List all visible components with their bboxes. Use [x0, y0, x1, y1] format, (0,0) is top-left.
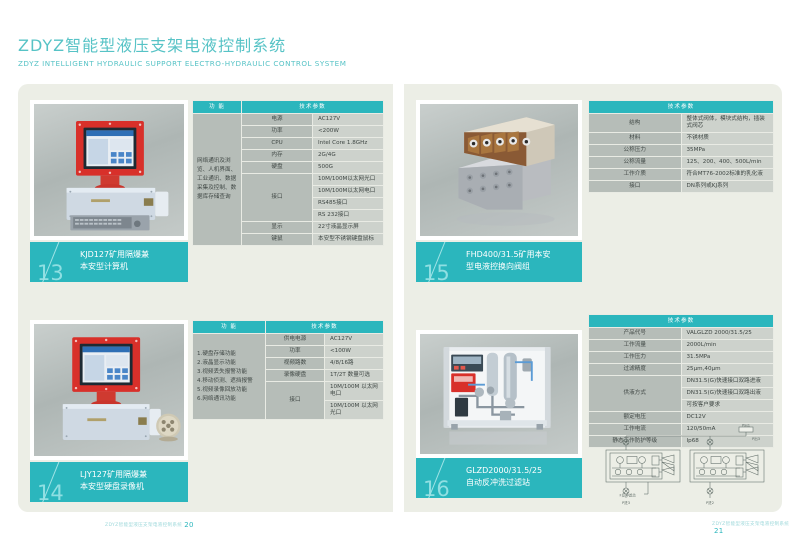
product-number-16: 16 [423, 479, 450, 498]
row-value: 1T/2T 数量可选 [325, 370, 384, 382]
product-label-16[interactable]: 16 GLZD2000/31.5/25 自动反冲洗过滤站 [416, 458, 582, 498]
row-key: 功率 [266, 346, 325, 358]
row-value: 10M/100M以太网电口 [313, 186, 384, 198]
row-value: 可按客户要求 [681, 400, 774, 412]
row-key: 硬盘 [242, 162, 313, 174]
table-row: 工作流量 2000L/min [589, 340, 774, 352]
table-row: 公称压力 35MPa [589, 145, 774, 157]
row-value: 本安型不锈钢键盘鼠标 [313, 234, 384, 246]
schematic-label-p-in-1: P进3 [622, 500, 630, 505]
row-value: 不锈材质 [681, 133, 774, 145]
col-header-function: 功 能 [193, 321, 266, 334]
row-value: 31.5MPa [681, 352, 774, 364]
footer-right: ZDYZ智能型液压支架电液控制系统21 [712, 521, 800, 535]
row-value: 符合MT76-2002标准的乳化液 [681, 169, 774, 181]
footer-brand-right: ZDYZ智能型液压支架电液控制系统 [712, 522, 789, 527]
row-key: 工作流量 [589, 340, 682, 352]
table-row: 产品代号 VALGLZD 2000/31.5/25 [589, 328, 774, 340]
row-value: VALGLZD 2000/31.5/25 [681, 328, 774, 340]
page-header: ZDYZ智能型液压支架电液控制系统 ZDYZ INTELLIGENT HYDRA… [18, 32, 346, 68]
row-value: 10M/100M 以太网光口 [325, 401, 384, 420]
product-label-13[interactable]: 13 KJD127矿用隔爆兼 本安型计算机 [30, 242, 188, 282]
table-row: 网络通讯及浏览、人机界面、工业通讯、数据采集及控制、数据库存储查询 电源 AC1… [193, 114, 384, 126]
row-key: 视频路数 [266, 358, 325, 370]
row-key: 供电电源 [266, 334, 325, 346]
product-label-15[interactable]: 15 FHD400/31.5矿用本安 型电液控换向阀组 [416, 242, 582, 282]
product-label-14[interactable]: 14 LJY127矿用隔爆兼 本安型硬盘录像机 [30, 462, 188, 502]
function-cell-14: 1.硬盘存储功能 2.液晶显示功能 3.视频丢失报警功能 4.移动侦测、遮挡报警… [193, 334, 266, 420]
table-row: 材料 不锈材质 [589, 133, 774, 145]
row-value: DN31.5(G)快速接口双路进液 [681, 376, 774, 388]
row-value: 10M/100M以太网光口 [313, 174, 384, 186]
row-value: 125、200、400、500L/min [681, 157, 774, 169]
photo-frame-16 [416, 330, 582, 458]
schematic-label-p-out-1: P出1 [742, 424, 750, 428]
row-key: 内存 [242, 150, 313, 162]
schematic-label-p-in-2: P进2 [706, 500, 714, 505]
table-row: 供液方式 DN31.5(G)快速接口双路进液 [589, 376, 774, 388]
row-value: 35MPa [681, 145, 774, 157]
spec-table-13: 功 能 技术参数 网络通讯及浏览、人机界面、工业通讯、数据采集及控制、数据库存储… [192, 100, 384, 246]
product-name-15: FHD400/31.5矿用本安 型电液控换向阀组 [466, 249, 578, 273]
explosion-proof-dvr-photo [34, 324, 184, 456]
product-number-15: 15 [423, 263, 450, 282]
col-header-function: 功 能 [193, 101, 242, 114]
table-row: 接口 DN系列或KJ系列 [589, 181, 774, 193]
row-value: AC127V [325, 334, 384, 346]
row-key: 接口 [266, 382, 325, 420]
col-header-params: 技术参数 [266, 321, 384, 334]
row-value: AC127V [313, 114, 384, 126]
table-row: 工作介质 符合MT76-2002标准的乳化液 [589, 169, 774, 181]
row-key: 接口 [589, 181, 682, 193]
table-row: 过滤精度 25μm,40μm [589, 364, 774, 376]
row-key: 键鼠 [242, 234, 313, 246]
photo-frame-13 [30, 100, 188, 240]
col-header-params: 技术参数 [242, 101, 384, 114]
row-value: <100W [325, 346, 384, 358]
row-value: Intel Core 1.8GHz [313, 138, 384, 150]
row-key: 供液方式 [589, 376, 682, 412]
col-header-params: 技术参数 [589, 315, 774, 328]
row-value: DN系列或KJ系列 [681, 181, 774, 193]
product-name-13: KJD127矿用隔爆兼 本安型计算机 [80, 249, 184, 273]
row-value: 整体式阀体，模块式结构，插装式阀芯 [681, 114, 774, 133]
row-value: 500G [313, 162, 384, 174]
row-value: 2G/4G [313, 150, 384, 162]
page-number-left: 20 [184, 521, 194, 529]
col-header-params: 技术参数 [589, 101, 774, 114]
filter-station-photo [420, 334, 578, 454]
table-header-row: 技术参数 [589, 101, 774, 114]
table-header-row: 功 能 技术参数 [193, 321, 384, 334]
row-value: 22寸液晶显示屏 [313, 222, 384, 234]
catalog-page: ZDYZ智能型液压支架电液控制系统 ZDYZ INTELLIGENT HYDRA… [0, 0, 800, 543]
row-value: 4/8/16路 [325, 358, 384, 370]
table-row: 公称流量 125、200、400、500L/min [589, 157, 774, 169]
table-row: 工作压力 31.5MPa [589, 352, 774, 364]
row-key: 显示 [242, 222, 313, 234]
row-value: 2000L/min [681, 340, 774, 352]
row-value: <200W [313, 126, 384, 138]
function-cell-13: 网络通讯及浏览、人机界面、工业通讯、数据采集及控制、数据库存储查询 [193, 114, 242, 246]
row-key: 材料 [589, 133, 682, 145]
product-number-13: 13 [37, 263, 64, 282]
product-number-14: 14 [37, 483, 64, 502]
row-key: 电源 [242, 114, 313, 126]
row-value: 25μm,40μm [681, 364, 774, 376]
row-key: 公称流量 [589, 157, 682, 169]
row-value: DN31.5(G)快速接口双路出液 [681, 388, 774, 400]
photo-frame-14 [30, 320, 188, 460]
row-key: 工作介质 [589, 169, 682, 181]
footer-left: ZDYZ智能型液压支架电液控制系统20 [105, 521, 194, 529]
row-key: 产品代号 [589, 328, 682, 340]
schematic-label-backwash: F反冲滤芯 [620, 493, 637, 498]
table-row: 额定电压 DC12V [589, 412, 774, 424]
row-key: 功率 [242, 126, 313, 138]
row-value: 10M/100M 以太网电口 [325, 382, 384, 401]
table-header-row: 功 能 技术参数 [193, 101, 384, 114]
spec-table-14: 功 能 技术参数 1.硬盘存储功能 2.液晶显示功能 3.视频丢失报警功能 4.… [192, 320, 384, 420]
row-key: CPU [242, 138, 313, 150]
spec-table-15: 技术参数 结构 整体式阀体，模块式结构，插装式阀芯 材料 不锈材质 公称压力 3… [588, 100, 774, 193]
page-title: ZDYZ智能型液压支架电液控制系统 [18, 32, 346, 56]
row-key: 结构 [589, 114, 682, 133]
row-value: RS 232接口 [313, 210, 384, 222]
row-key: 额定电压 [589, 412, 682, 424]
row-value: RS485接口 [313, 198, 384, 210]
row-key: 公称压力 [589, 145, 682, 157]
row-key: 接口 [242, 174, 313, 222]
table-header-row: 技术参数 [589, 315, 774, 328]
table-row: 1.硬盘存储功能 2.液晶显示功能 3.视频丢失报警功能 4.移动侦测、遮挡报警… [193, 334, 384, 346]
photo-frame-15 [416, 100, 582, 240]
table-row: 结构 整体式阀体，模块式结构，插装式阀芯 [589, 114, 774, 133]
row-value: DC12V [681, 412, 774, 424]
row-key: 工作压力 [589, 352, 682, 364]
product-name-16: GLZD2000/31.5/25 自动反冲洗过滤站 [466, 465, 578, 489]
page-subtitle: ZDYZ INTELLIGENT HYDRAULIC SUPPORT ELECT… [18, 59, 346, 68]
page-number-right: 21 [714, 527, 724, 535]
row-key: 录像硬盘 [266, 370, 325, 382]
explosion-proof-computer-photo [34, 104, 184, 236]
hydraulic-circuit-diagram: P出1 P出3 P进3 P进2 F反冲滤芯 [596, 424, 776, 508]
hydraulic-valve-block-photo [420, 104, 578, 236]
footer-brand-left: ZDYZ智能型液压支架电液控制系统 [105, 523, 182, 528]
schematic-label-p-out-3: P出3 [752, 436, 760, 441]
row-key: 过滤精度 [589, 364, 682, 376]
product-name-14: LJY127矿用隔爆兼 本安型硬盘录像机 [80, 469, 184, 493]
